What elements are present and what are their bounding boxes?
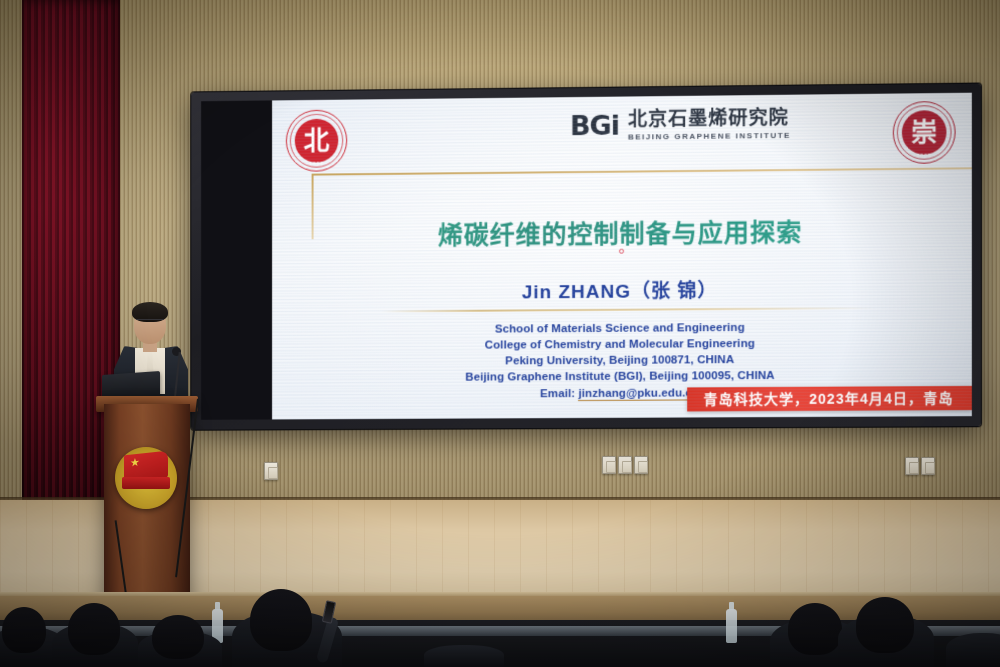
audience-member — [2, 607, 46, 653]
email-label: Email: — [540, 388, 575, 400]
emblem-band — [122, 477, 170, 489]
slide-footer-banner: 青岛科技大学，2023年4月4日，青岛 — [687, 386, 971, 412]
title-accent-dot-icon — [619, 249, 624, 254]
peking-university-seal-icon: 北 1898 — [286, 110, 347, 172]
audience-member — [788, 603, 842, 655]
audience-member-photographing — [250, 589, 312, 651]
audience-member — [424, 645, 504, 667]
bgi-name-en: BEIJING GRAPHENE INSTITUTE — [628, 131, 791, 142]
audience-member — [856, 597, 914, 653]
wall-outlet — [602, 456, 616, 474]
bgi-name-zh: 北京石墨烯研究院 — [628, 109, 791, 131]
slide-title: 烯碳纤维的控制制备与应用探索 — [272, 212, 972, 254]
water-bottle — [726, 609, 737, 643]
right-seal-year: 2005 — [893, 153, 956, 160]
star-icon: ★ — [130, 458, 140, 470]
bgi-logo: BGi 北京石墨烯研究院 BEIJING GRAPHENE INSTITUTE — [570, 109, 791, 142]
wall-outlet — [905, 457, 919, 475]
decor-line-horizontal — [312, 167, 972, 175]
slide-author: Jin ZHANG（张 锦） — [272, 274, 972, 306]
presentation-slide: 北 1898 崇 2005 BGi 北京石墨烯研究院 BEIJING G — [272, 93, 972, 420]
presentation-photo-scene: 北 1898 崇 2005 BGi 北京石墨烯研究院 BEIJING G — [0, 0, 1000, 667]
materials-school-seal-icon: 崇 2005 — [893, 101, 956, 164]
email-address-link[interactable]: jinzhang@pku.edu.cn — [578, 388, 699, 402]
wall-outlet — [618, 456, 632, 474]
wall-outlet — [634, 456, 648, 474]
audience-member — [68, 603, 120, 655]
audience-member — [152, 615, 204, 659]
wall-outlet — [264, 462, 278, 480]
youth-league-emblem-icon: ★ — [115, 447, 177, 509]
wall-outlet — [921, 457, 935, 475]
pku-seal-year: 1898 — [286, 161, 347, 168]
author-divider-line — [381, 307, 876, 312]
glasses-icon — [136, 319, 164, 326]
projection-screen-frame: 北 1898 崇 2005 BGi 北京石墨烯研究院 BEIJING G — [191, 84, 981, 430]
projection-screen-surface: 北 1898 崇 2005 BGi 北京石墨烯研究院 BEIJING G — [201, 93, 972, 420]
bgi-wordmark: BGi — [570, 113, 619, 141]
audience-member — [946, 633, 1000, 667]
